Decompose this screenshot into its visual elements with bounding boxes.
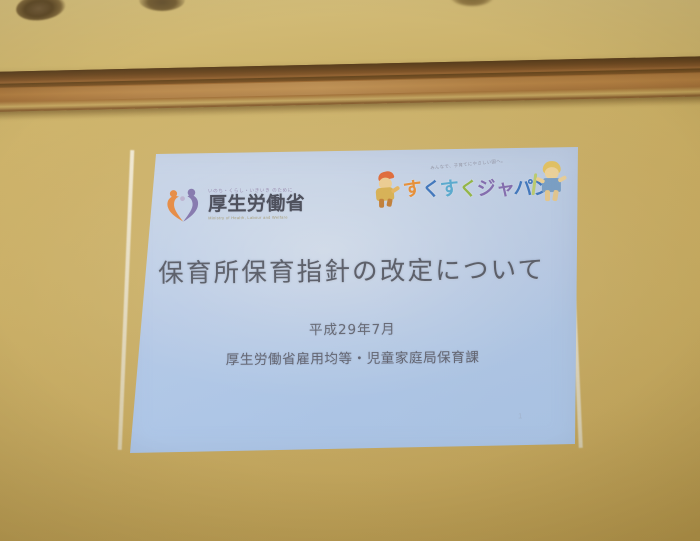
sukusuku-letter: パ <box>513 173 533 201</box>
photo-of-presentation-room: いのち・くらし・いきいき のために 厚生労働省 Ministry of Heal… <box>0 0 700 541</box>
slide-title: 保育所保育指針の改定について <box>126 249 578 290</box>
sukusuku-letter: く <box>457 173 478 202</box>
sukusuku-letter: ジ <box>476 173 497 201</box>
projection-screen: いのち・くらし・いきいき のために 厚生労働省 Ministry of Heal… <box>126 147 578 453</box>
sukusuku-letter: す <box>401 173 423 202</box>
sukusuku-letter: ャ <box>495 173 515 201</box>
mhlw-name-en: Ministry of Health, Labour and Welfare <box>208 214 305 220</box>
sukusuku-letter: す <box>439 173 460 202</box>
slide-page-number: 1 <box>518 411 522 420</box>
sukusuku-japan-logo: みんなで、子育てにやさしい国へ。 すくすくジャパン! <box>373 157 569 221</box>
mhlw-logo-mark-icon <box>163 184 203 224</box>
slide-organization: 厚生労働省雇用均等・児童家庭局保育課 <box>126 345 578 369</box>
sukusuku-letter: く <box>420 174 441 202</box>
sukusuku-child-left-icon <box>371 172 399 208</box>
sukusuku-child-right-icon <box>537 161 567 203</box>
mhlw-logo: いのち・くらし・いきいき のために 厚生労働省 Ministry of Heal… <box>163 178 321 230</box>
mhlw-name-ja: 厚生労働省 <box>208 194 305 214</box>
mhlw-tagline: いのち・くらし・いきいき のために <box>208 187 305 194</box>
projection-area: いのち・くらし・いきいき のために 厚生労働省 Ministry of Heal… <box>0 0 700 541</box>
slide-content: いのち・くらし・いきいき のために 厚生労働省 Ministry of Heal… <box>125 145 580 455</box>
mhlw-logo-text: いのち・くらし・いきいき のために 厚生労働省 Ministry of Heal… <box>208 187 305 220</box>
slide-date: 平成29年7月 <box>126 316 578 340</box>
screen-left-edge <box>118 150 135 450</box>
